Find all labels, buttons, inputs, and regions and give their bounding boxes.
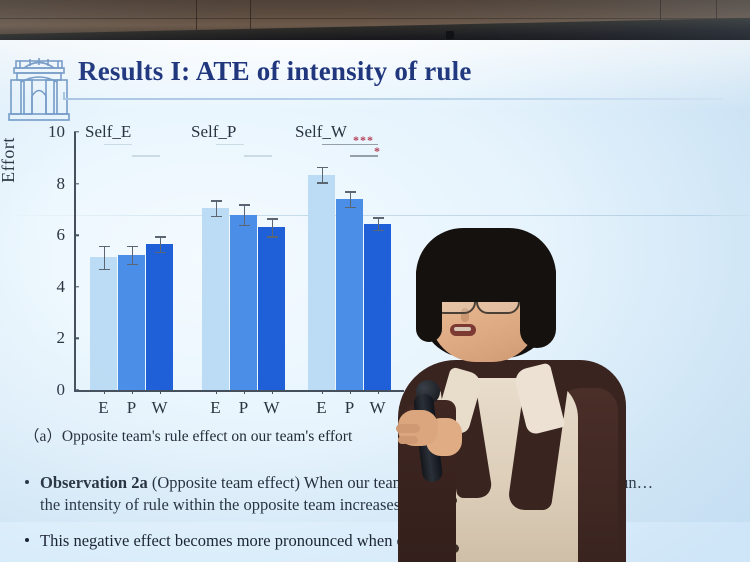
chart-bar	[118, 255, 145, 390]
effort-bar-chart: Effort 0246810EPWEPWEPW****	[14, 112, 414, 402]
chart-bar	[90, 257, 117, 390]
x-axis-tick-mark	[216, 390, 217, 394]
x-axis-tick-label: P	[127, 398, 136, 418]
error-bar-cap	[373, 230, 384, 231]
error-bar-cap	[211, 200, 222, 201]
error-bar-cap	[267, 236, 278, 237]
speaker-presenter	[392, 228, 632, 562]
significance-bracket	[216, 144, 244, 145]
error-bar	[350, 191, 351, 206]
x-axis-tick-mark	[244, 390, 245, 394]
error-bar-cap	[211, 216, 222, 217]
y-axis-tick-mark	[74, 286, 79, 287]
error-bar-cap	[155, 252, 166, 253]
y-axis-tick-label: 2	[57, 328, 66, 348]
x-axis-tick-label: W	[151, 398, 167, 418]
x-axis-tick-label: E	[98, 398, 108, 418]
y-axis-tick-mark	[74, 338, 79, 339]
x-axis-tick-label: P	[239, 398, 248, 418]
error-bar	[378, 217, 379, 230]
chart-bar	[230, 215, 257, 390]
y-axis-tick-mark	[74, 234, 79, 235]
y-axis-tick-label: 0	[57, 380, 66, 400]
x-axis-tick-label: E	[210, 398, 220, 418]
chart-bar	[308, 175, 335, 390]
chart-bar	[202, 208, 229, 390]
error-bar	[216, 200, 217, 215]
error-bar-cap	[345, 191, 356, 192]
x-axis-tick-label: W	[263, 398, 279, 418]
error-bar	[244, 204, 245, 225]
x-axis-tick-mark	[350, 390, 351, 394]
chart-bar	[336, 199, 363, 390]
error-bar-cap	[155, 236, 166, 237]
presentation-slide: Results I: ATE of intensity of rule Self…	[0, 40, 750, 562]
chart-bar	[364, 224, 391, 390]
x-axis-tick-mark	[378, 390, 379, 394]
significance-bracket	[244, 155, 272, 156]
error-bar	[160, 236, 161, 251]
error-bar	[322, 167, 323, 182]
y-axis-line	[74, 132, 76, 390]
x-axis-tick-mark	[132, 390, 133, 394]
error-bar-cap	[317, 167, 328, 168]
x-axis-tick-mark	[104, 390, 105, 394]
screenshot-stage: Results I: ATE of intensity of rule Self…	[0, 0, 750, 562]
title-underline	[63, 98, 723, 100]
error-bar-cap	[345, 207, 356, 208]
error-bar-cap	[373, 217, 384, 218]
title-underline-cap	[63, 92, 65, 100]
y-axis-tick-label: 8	[57, 174, 66, 194]
error-bar-cap	[239, 204, 250, 205]
x-axis-tick-label: W	[369, 398, 385, 418]
significance-stars: *	[374, 144, 381, 159]
error-bar-cap	[99, 246, 110, 247]
x-axis-line	[74, 390, 404, 392]
significance-stars: ***	[353, 133, 374, 148]
error-bar-cap	[99, 269, 110, 270]
y-axis-tick-label: 4	[57, 277, 66, 297]
y-axis-tick-mark	[74, 131, 79, 132]
chart-bar	[258, 227, 285, 390]
error-bar-cap	[127, 264, 138, 265]
significance-bracket	[104, 144, 132, 145]
x-axis-tick-label: P	[345, 398, 354, 418]
significance-bracket	[132, 155, 160, 156]
chart-bar	[146, 244, 173, 390]
x-axis-tick-label: E	[316, 398, 326, 418]
y-axis-tick-label: 10	[48, 122, 65, 142]
error-bar-cap	[317, 182, 328, 183]
bullet-1-lead: Observation 2a	[40, 473, 148, 492]
y-axis-tick-mark	[74, 389, 79, 390]
x-axis-tick-mark	[160, 390, 161, 394]
error-bar	[132, 246, 133, 264]
y-axis-tick-mark	[74, 183, 79, 184]
y-axis-tick-label: 6	[57, 225, 66, 245]
ceiling-sensor-icon	[446, 31, 454, 39]
error-bar-cap	[239, 225, 250, 226]
slide-title: Results I: ATE of intensity of rule	[78, 56, 472, 87]
error-bar-cap	[127, 246, 138, 247]
bullet-1-line-2: the intensity of rule within the opposit…	[40, 494, 738, 516]
y-axis-title: Effort	[0, 100, 19, 220]
x-axis-tick-mark	[272, 390, 273, 394]
x-axis-tick-mark	[322, 390, 323, 394]
figure-caption: （a）Opposite team's rule effect on our te…	[24, 424, 352, 446]
error-bar	[104, 246, 105, 269]
error-bar	[272, 218, 273, 236]
error-bar-cap	[267, 218, 278, 219]
